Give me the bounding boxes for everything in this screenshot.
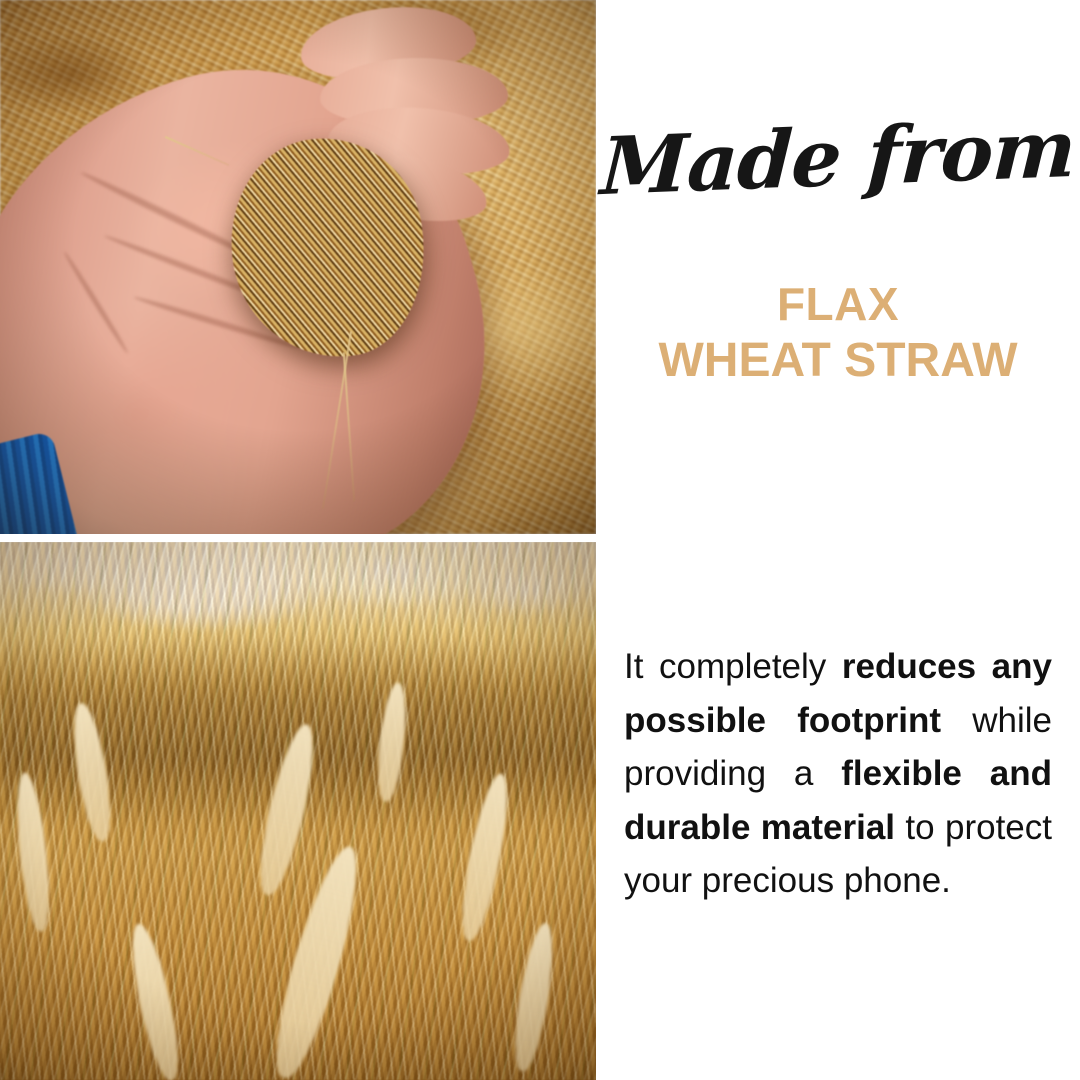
photo-vignette	[0, 542, 596, 1080]
photo-vignette	[0, 0, 596, 534]
text-column: Made from FLAX WHEAT STRAW It completely…	[596, 0, 1080, 1080]
wheat-field-sunset-photo	[0, 542, 596, 1080]
photo-column	[0, 0, 596, 1080]
material-name-wheat-straw: WHEAT STRAW	[596, 332, 1080, 391]
hand-holding-straw-photo	[0, 0, 596, 534]
material-name-flax: FLAX	[596, 276, 1080, 332]
body-paragraph: It completely reduces any possible footp…	[624, 640, 1052, 908]
materials-list: FLAX WHEAT STRAW	[596, 276, 1080, 391]
body-text-part-1: It completely	[624, 647, 842, 686]
script-headline: Made from	[594, 109, 1080, 207]
poster-root: Made from FLAX WHEAT STRAW It completely…	[0, 0, 1080, 1080]
